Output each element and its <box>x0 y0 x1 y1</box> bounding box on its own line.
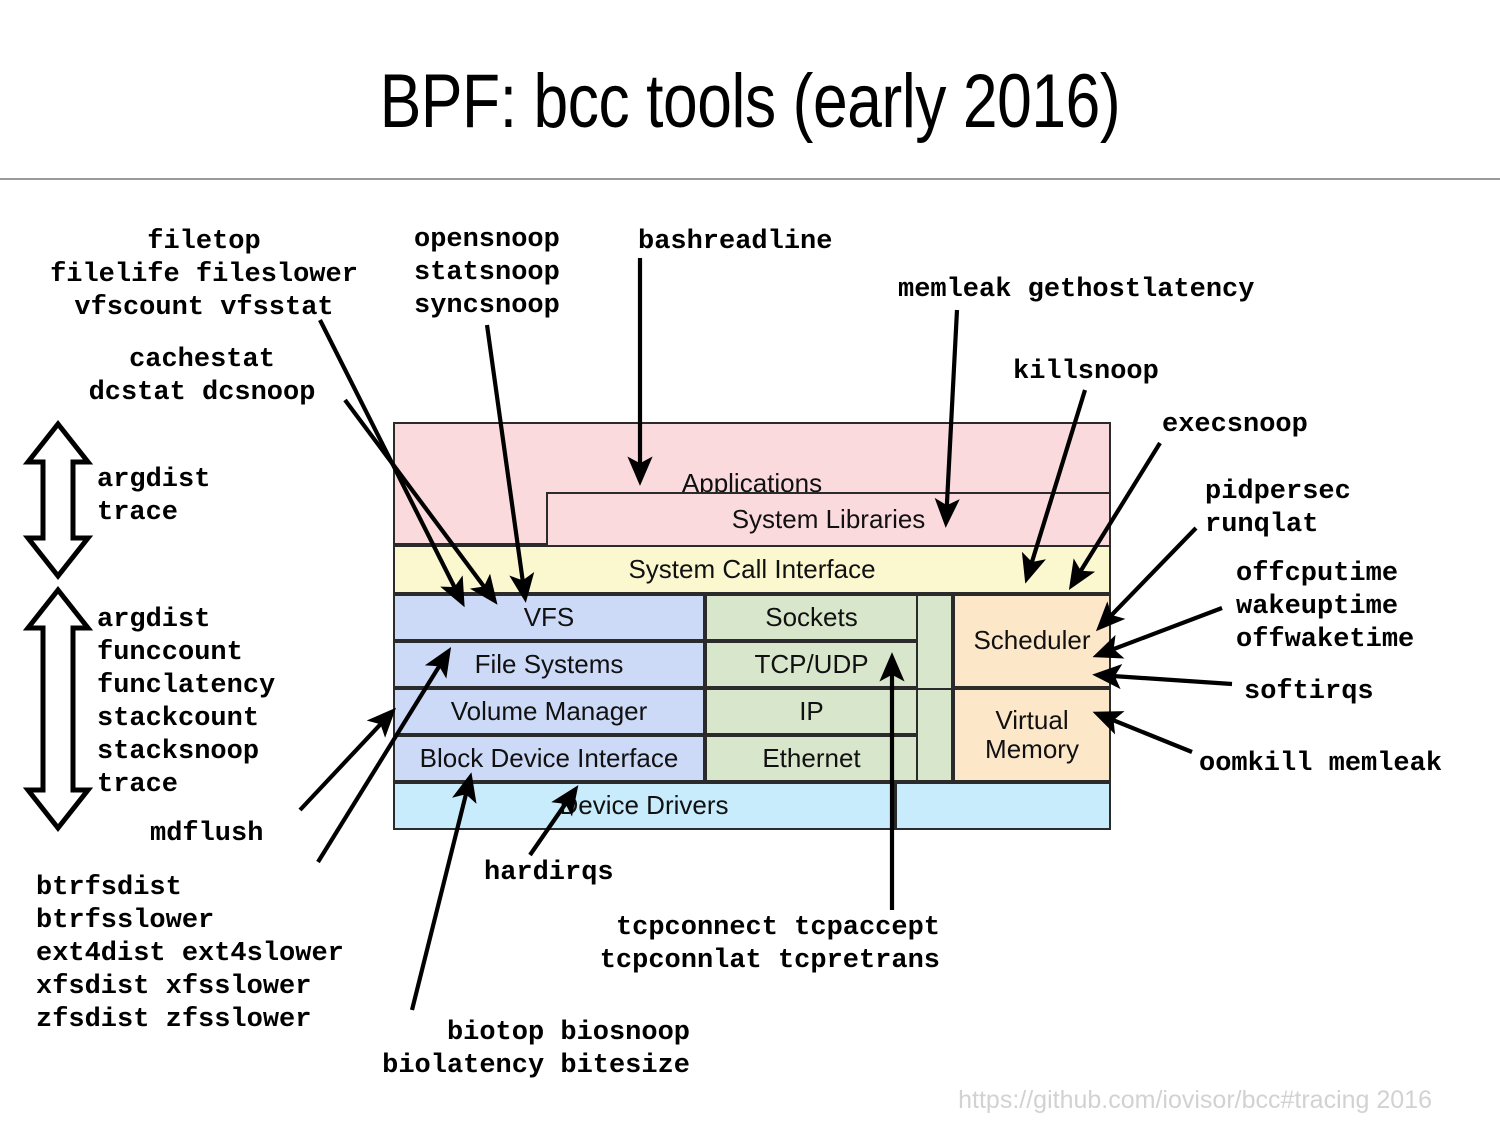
arrow-oomkill-memleak-to-virtual-memory <box>1098 714 1192 752</box>
label-file-tools: filetop filelife fileslower vfscount vfs… <box>14 226 394 325</box>
stack-box-ethernet: Ethernet <box>705 735 918 782</box>
label-execsnoop: execsnoop <box>1162 409 1308 442</box>
stack-box-device-drivers-right <box>895 782 1111 830</box>
label-killsnoop: killsnoop <box>1013 356 1159 389</box>
double-headed-vertical-arrow-icon-user <box>28 424 88 576</box>
stack-box-ip: IP <box>705 688 918 735</box>
label-dynamic-tracing-kernel: argdist funccount funclatency stackcount… <box>97 604 275 802</box>
stack-box-file-systems: File Systems <box>393 641 705 688</box>
double-headed-vertical-arrow-icon-kernel <box>28 590 88 828</box>
label-syscall-snoops: opensnoop statsnoop syncsnoop <box>414 224 560 323</box>
system-stack-diagram: Applications System Libraries System Cal… <box>393 422 1111 830</box>
stack-box-block-device-interface: Block Device Interface <box>393 735 705 782</box>
label-mdflush: mdflush <box>150 818 263 851</box>
arrow-pidpersec-runqlat-to-scheduler <box>1100 528 1196 627</box>
label-tcp-tools: tcpconnect tcpaccept tcpconnlat tcpretra… <box>530 912 940 978</box>
stack-box-device-drivers: Device Drivers <box>393 782 895 830</box>
label-softirqs: softirqs <box>1244 676 1374 709</box>
title-divider <box>0 178 1500 180</box>
label-offcpu-group: offcputime wakeuptime offwaketime <box>1236 558 1414 657</box>
arrow-softirqs-to-scheduler <box>1098 675 1232 684</box>
stack-box-vfs: VFS <box>393 594 705 641</box>
label-hardirqs: hardirqs <box>484 857 614 890</box>
label-cache-tools: cachestat dcstat dcsnoop <box>52 344 352 410</box>
label-dynamic-tracing-user: argdist trace <box>97 464 210 530</box>
page-title: BPF: bcc tools (early 2016) <box>135 58 1365 145</box>
label-memleak-gethostlatency: memleak gethostlatency <box>898 274 1254 307</box>
stack-box-volume-manager: Volume Manager <box>393 688 705 735</box>
stack-filler-green-strip <box>918 688 953 782</box>
stack-box-sockets: Sockets <box>705 594 918 641</box>
arrow-offcpu-group-to-scheduler <box>1098 608 1222 655</box>
source-url-footer: https://github.com/iovisor/bcc#tracing 2… <box>958 1086 1432 1115</box>
stack-filler-green-strip-upper <box>918 594 953 688</box>
stack-box-system-libraries: System Libraries <box>546 492 1111 545</box>
stack-box-scheduler: Scheduler <box>953 594 1111 688</box>
label-bashreadline: bashreadline <box>638 226 832 259</box>
label-fs-dists: btrfsdist btrfsslower ext4dist ext4slowe… <box>36 872 344 1037</box>
stack-box-tcp-udp: TCP/UDP <box>705 641 918 688</box>
label-pidpersec-runqlat: pidpersec runqlat <box>1205 476 1351 542</box>
slide-root: BPF: bcc tools (early 2016) Applications… <box>0 0 1500 1125</box>
stack-box-system-call-interface: System Call Interface <box>393 545 1111 594</box>
arrow-mdflush-to-volume-manager <box>300 712 392 810</box>
stack-box-virtual-memory: Virtual Memory <box>953 688 1111 782</box>
label-oomkill-memleak: oomkill memleak <box>1199 748 1442 781</box>
label-bio-tools: biotop biosnoop biolatency bitesize <box>290 1017 690 1083</box>
